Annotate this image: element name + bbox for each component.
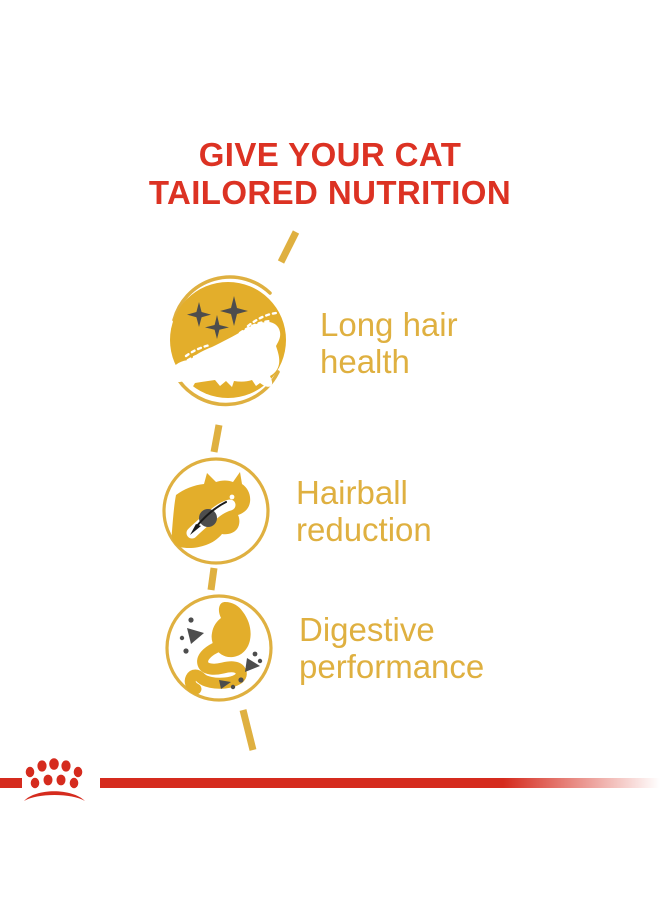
hairball-cat-icon (160, 455, 272, 567)
feature-label-hairball-reduction: Hairball reduction (296, 474, 432, 548)
digestive-stomach-icon (163, 592, 275, 704)
long-hair-cat-icon (152, 268, 302, 418)
packaging-infographic: GIVE YOUR CAT TAILORED NUTRITION (0, 0, 660, 900)
feature-row-hairball-reduction: Hairball reduction (160, 455, 432, 567)
feature-label-line-1: Long hair (320, 306, 458, 343)
feature-label-line-1: Digestive (299, 611, 484, 648)
feature-row-long-hair-health: Long hair health (152, 268, 458, 418)
brand-footer (0, 735, 660, 825)
feature-row-digestive-performance: Digestive performance (163, 592, 484, 704)
feature-label-long-hair-health: Long hair health (320, 306, 458, 380)
page-title-line-2: TAILORED NUTRITION (0, 174, 660, 212)
feature-label-line-1: Hairball (296, 474, 432, 511)
feature-label-line-2: health (320, 343, 458, 380)
feature-label-line-2: performance (299, 648, 484, 685)
feature-label-digestive-performance: Digestive performance (299, 611, 484, 685)
brand-rule-left (0, 778, 22, 788)
page-title: GIVE YOUR CAT TAILORED NUTRITION (0, 136, 660, 212)
feature-label-line-2: reduction (296, 511, 432, 548)
page-title-line-1: GIVE YOUR CAT (0, 136, 660, 174)
brand-rule-line (100, 778, 660, 788)
royal-canin-crown-logo (24, 758, 85, 801)
